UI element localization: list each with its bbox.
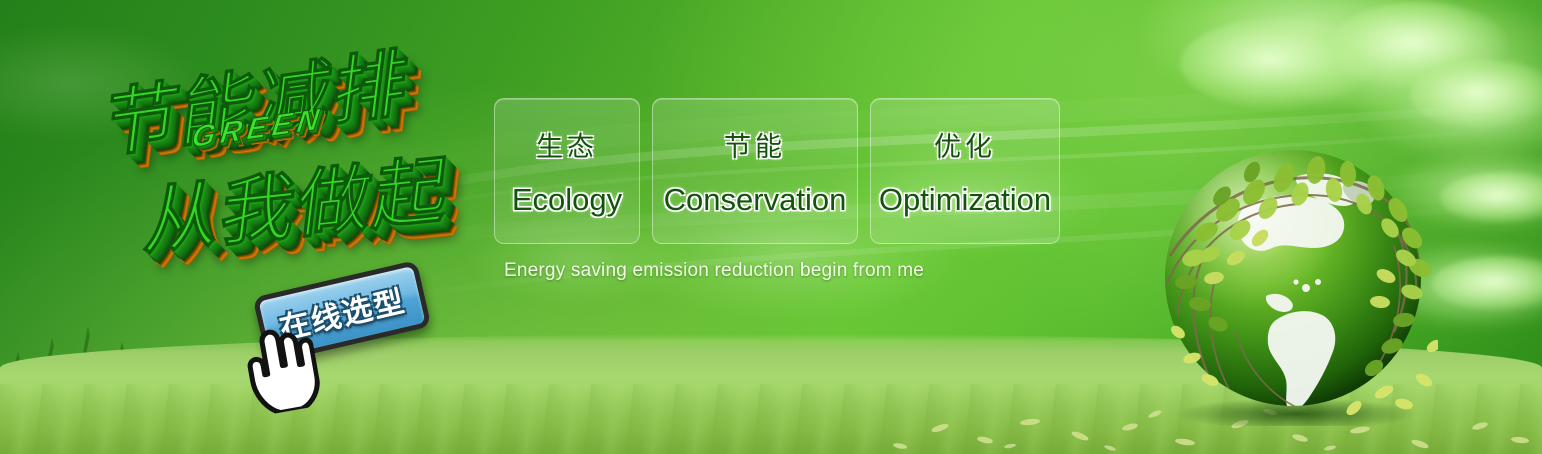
tagline: Energy saving emission reduction begin f… — [504, 260, 924, 282]
card-ecology-cn: 生态 — [536, 125, 598, 164]
card-conservation-en: Conservation — [664, 182, 847, 218]
card-optimization-cn: 优化 — [934, 125, 996, 164]
online-selection-label: 在线选型 — [275, 276, 410, 348]
feature-cards: 生态 Ecology 节能 Conservation 优化 Optimizati… — [494, 98, 1060, 244]
headline-3d-art: 节能减排 GREEN 从我做起 — [96, 38, 496, 268]
headline-line-green: GREEN — [190, 102, 326, 155]
card-conservation[interactable]: 节能 Conservation — [652, 98, 858, 244]
card-ecology-en: Ecology — [512, 182, 622, 218]
energy-saving-banner: 节能减排 GREEN 从我做起 在线选型 生态 Ecology 节能 Conse… — [0, 0, 1542, 454]
grass-field — [0, 334, 1542, 454]
card-ecology[interactable]: 生态 Ecology — [494, 98, 640, 244]
card-optimization-en: Optimization — [879, 182, 1051, 218]
card-optimization[interactable]: 优化 Optimization — [870, 98, 1060, 244]
card-conservation-cn: 节能 — [724, 125, 786, 164]
headline-line-top: 节能减排 — [99, 22, 416, 174]
headline-line-bottom: 从我做起 — [139, 129, 456, 269]
